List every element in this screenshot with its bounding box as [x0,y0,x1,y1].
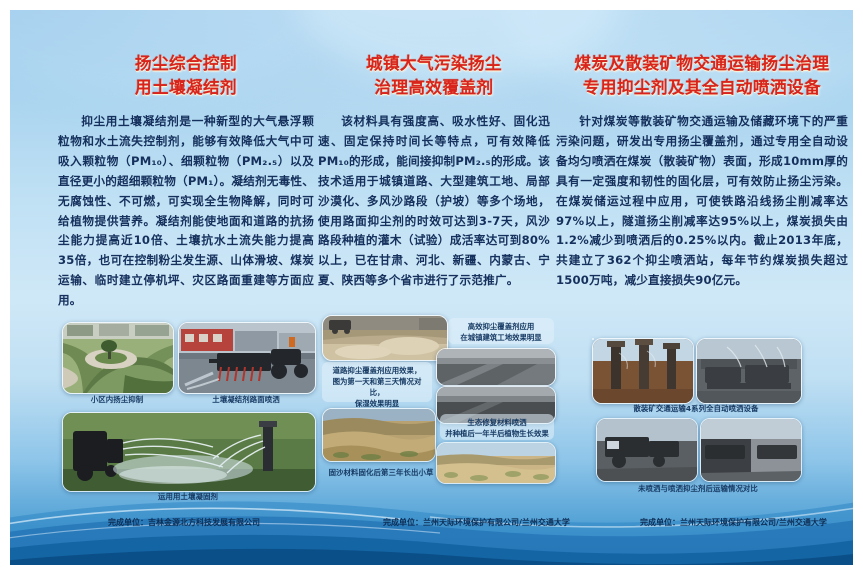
poster-white-frame [0,0,863,575]
poster-root: 扬尘综合控制 用土壤凝结剂 抑尘用土壤凝结剂是一种新型的大气悬浮颗粒物和水土流失… [0,0,863,575]
